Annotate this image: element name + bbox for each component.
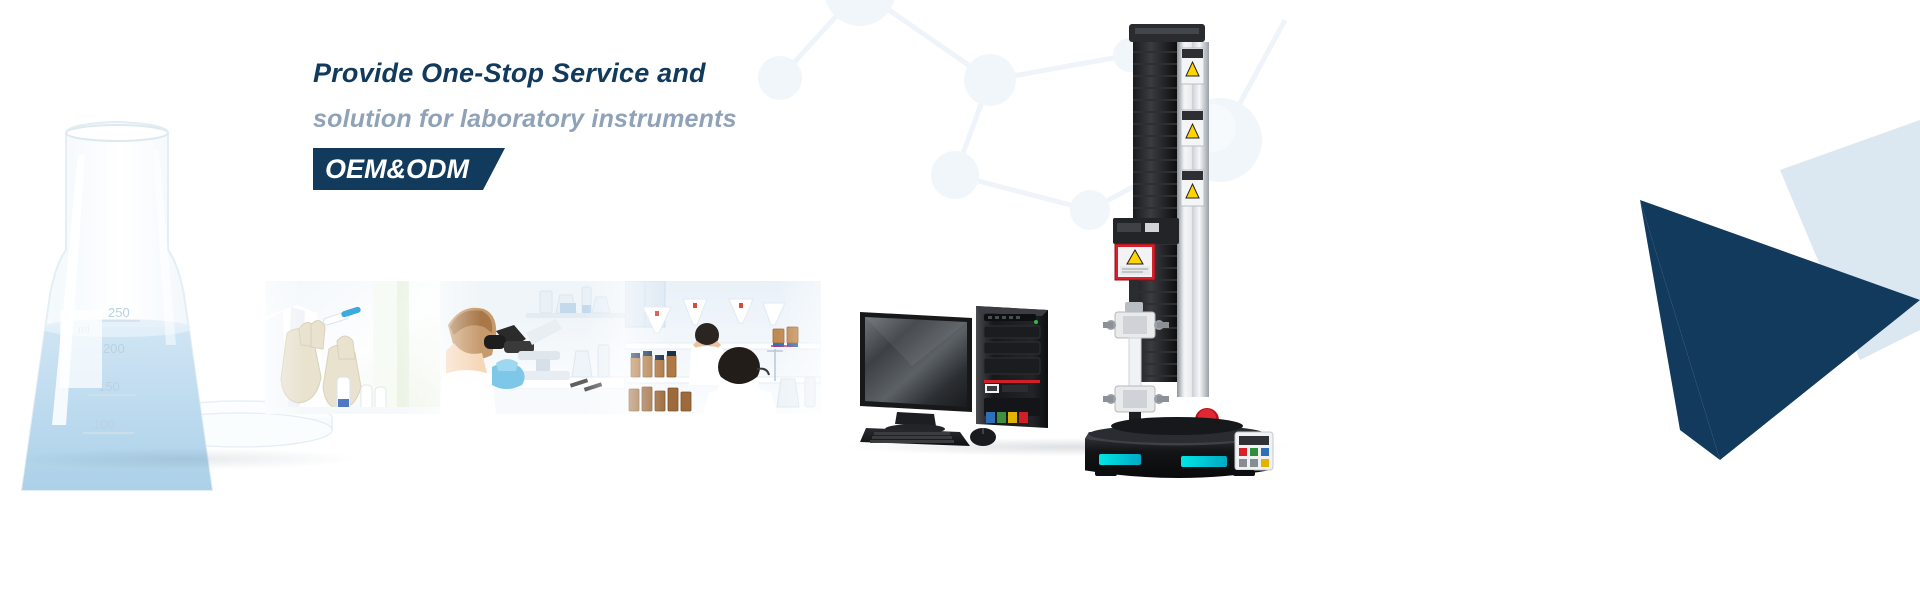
- dark-triangle-tip: [1640, 200, 1720, 460]
- lcd-monitor: [860, 312, 972, 434]
- thumbnail-scientist-at-microscope: [440, 281, 625, 414]
- base-accent-left: [1099, 454, 1141, 465]
- thumbnail-gloved-hands-pipetting: [265, 281, 440, 414]
- headline-line-1: Provide One-Stop Service and: [313, 58, 1013, 90]
- mouse: [970, 428, 996, 446]
- pc-tower: [976, 306, 1048, 428]
- lab-photo-strip: [265, 281, 821, 414]
- svg-text:200: 200: [103, 341, 125, 356]
- badge-tail-shape: [483, 148, 505, 190]
- oem-odm-badge-row: OEM&ODM: [313, 148, 483, 190]
- base-accent-right: [1181, 456, 1227, 467]
- light-triangle: [1780, 120, 1920, 330]
- dark-triangle: [1640, 200, 1920, 460]
- desktop-computer: [852, 300, 1087, 450]
- keyboard: [860, 428, 970, 446]
- thumbnail-lab-technicians-at-bench: [625, 281, 821, 414]
- hero-banner: 250 200 150 100 ml Provide One-Stop Serv…: [0, 0, 1920, 597]
- headline-line-2: solution for laboratory instruments: [313, 105, 1013, 135]
- flask-body: 250 200 150 100 ml: [10, 122, 230, 495]
- headline-block: Provide One-Stop Service and solution fo…: [313, 58, 1013, 134]
- warning-labels: [1181, 48, 1204, 206]
- universal-testing-machine: [1085, 18, 1305, 478]
- machine-base: [1085, 408, 1273, 478]
- oem-odm-badge: OEM&ODM: [313, 148, 483, 190]
- light-triangle-b: [1780, 170, 1920, 360]
- svg-text:100: 100: [93, 417, 115, 432]
- svg-text:250: 250: [108, 305, 130, 320]
